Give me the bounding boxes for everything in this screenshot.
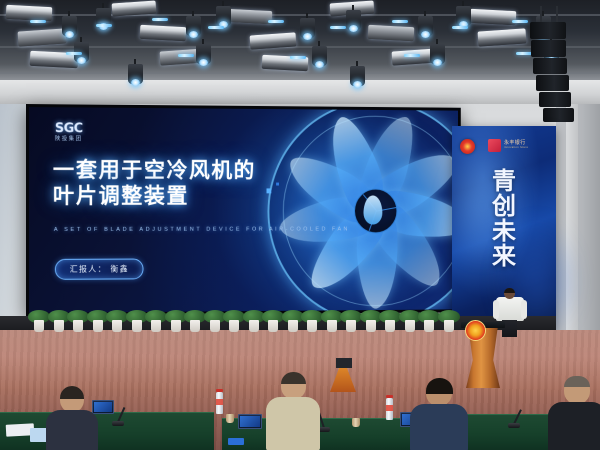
plant-pot — [424, 320, 434, 332]
person-body — [548, 402, 600, 450]
fan-graphic — [262, 107, 458, 313]
speaker-torso — [496, 297, 524, 321]
stage-light-fresnel — [470, 9, 517, 25]
stage-light-fresnel — [228, 9, 273, 24]
bottle-cap-2 — [386, 395, 393, 398]
slide-title-line2: 叶片调整装置 — [53, 183, 256, 209]
light-lens-icon — [433, 59, 442, 66]
slide-title-line1: 一套用于空冷风机的 — [53, 157, 256, 184]
bottle-label-2 — [386, 405, 393, 411]
audience-person-1 — [46, 386, 98, 450]
sponsor-logo-icon — [488, 139, 501, 152]
plant-pot — [288, 320, 298, 332]
audience-person-3 — [410, 378, 468, 450]
tablet-2 — [238, 414, 262, 429]
led-strip-light — [404, 54, 420, 57]
plant-pot — [268, 320, 278, 332]
led-strip-light — [290, 56, 306, 59]
plant-pot — [210, 320, 220, 332]
plant-pot — [73, 320, 83, 332]
led-presentation-screen: SGC 陕投集团 一套用于空冷风机的 叶片调整装置 A SET OF BLADE… — [26, 104, 461, 316]
light-lens-icon — [303, 33, 312, 40]
plant-pot — [54, 320, 64, 332]
led-strip-light — [392, 20, 408, 23]
light-lens-icon — [131, 79, 140, 86]
truss-rail — [0, 72, 600, 74]
stage-plant — [438, 310, 460, 332]
conference-hall-photo: SGC 陕投集团 一套用于空冷风机的 叶片调整装置 A SET OF BLADE… — [0, 0, 600, 450]
cup-1 — [226, 414, 234, 423]
truss-rail — [0, 46, 600, 48]
person-body — [266, 397, 320, 450]
microphone-3 — [508, 406, 520, 428]
banner-title: 青创未来 — [491, 170, 517, 270]
plant-pot — [444, 320, 454, 332]
led-strip-light — [96, 24, 112, 27]
light-lens-icon — [189, 31, 198, 38]
plant-pot — [366, 320, 376, 332]
stage-plant-row — [0, 300, 470, 332]
led-strip-light — [516, 52, 532, 55]
stage-light-fresnel — [6, 5, 53, 21]
floor-sign-legs — [336, 358, 352, 368]
speaker-hair — [504, 288, 515, 293]
plant-pot — [346, 320, 356, 332]
light-lens-icon — [353, 81, 362, 88]
person-hair — [60, 386, 84, 399]
led-strip-light — [208, 26, 224, 29]
slide-content: SGC 陕投集团 一套用于空冷风机的 叶片调整装置 A SET OF BLADE… — [29, 107, 458, 313]
led-strip-light — [66, 52, 82, 55]
light-lens-icon — [199, 59, 208, 66]
led-strip-light — [512, 20, 528, 23]
audience-person-4 — [548, 376, 600, 450]
plant-pot — [327, 320, 337, 332]
phone-1 — [228, 438, 244, 445]
light-lens-icon — [65, 31, 74, 38]
speaker-arm-left — [493, 300, 499, 319]
plant-pot — [112, 320, 122, 332]
stage-light-fresnel — [140, 25, 187, 41]
plant-pot — [405, 320, 415, 332]
brand-mark: SGC — [55, 122, 83, 135]
speaker-arm-right — [521, 300, 527, 319]
bottle-label-1 — [216, 399, 223, 405]
led-strip-light — [152, 18, 168, 21]
light-lens-icon — [349, 25, 358, 32]
led-strip-light — [268, 20, 284, 23]
fan-hub — [354, 189, 397, 234]
led-strip-light — [30, 20, 46, 23]
ceiling-soffit — [0, 78, 600, 104]
plant-pot — [93, 320, 103, 332]
plant-pot — [34, 320, 44, 332]
person-hair — [281, 372, 306, 384]
brand-subtitle: 陕投集团 — [55, 137, 83, 143]
presenting-speaker — [495, 288, 525, 336]
sponsor-name: 永丰银行 innovation future — [504, 140, 528, 149]
slide-title: 一套用于空冷风机的 叶片调整装置 — [53, 157, 256, 209]
plant-pot — [307, 320, 317, 332]
podium-emblem-icon — [465, 320, 486, 341]
plant-pot — [249, 320, 259, 332]
person-hair — [426, 378, 453, 394]
led-strip-light — [452, 26, 468, 29]
slide-subtitle-en: A SET OF BLADE ADJUSTMENT DEVICE FOR AIR… — [54, 227, 350, 233]
light-lens-icon — [77, 57, 86, 64]
plant-pot — [132, 320, 142, 332]
led-strip-light — [330, 26, 346, 29]
presenter-badge: 汇报人： 衡鑫 — [55, 259, 144, 280]
light-lens-icon — [315, 61, 324, 68]
title-decoration-icon — [266, 189, 271, 194]
stage-light-fresnel — [368, 25, 415, 41]
bottle-cap-1 — [216, 389, 223, 392]
plant-pot — [190, 320, 200, 332]
person-body — [410, 404, 468, 450]
person-hair — [564, 376, 590, 387]
led-strip-light — [178, 54, 194, 57]
plant-pot — [385, 320, 395, 332]
brand-logo: SGC 陕投集团 — [55, 122, 83, 143]
person-body — [46, 410, 98, 450]
plant-pot — [171, 320, 181, 332]
plant-pot — [151, 320, 161, 332]
light-lens-icon — [421, 31, 430, 38]
audience-person-2 — [266, 372, 320, 450]
youth-league-emblem-icon — [460, 139, 475, 154]
plant-pot — [229, 320, 239, 332]
cup-2 — [352, 418, 360, 427]
